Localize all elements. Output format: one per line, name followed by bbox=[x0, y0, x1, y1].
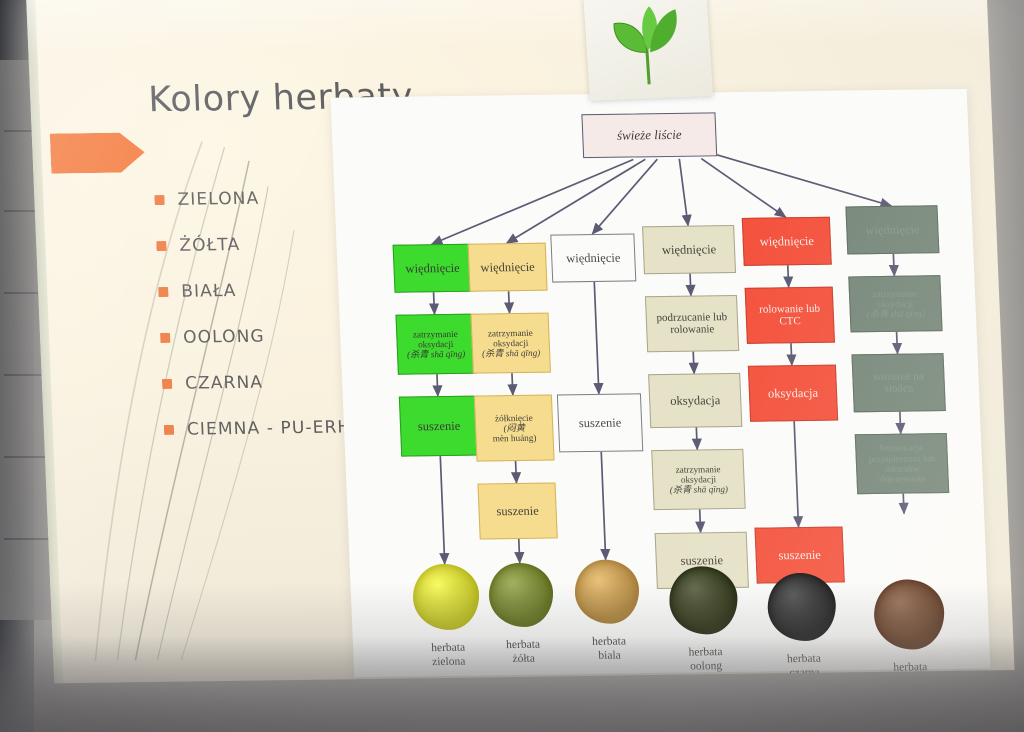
list-item-label: CIEMNA - PU-ERH bbox=[187, 417, 352, 439]
node-line: żółknięcie bbox=[492, 412, 536, 423]
slide: Kolory herbaty ZIELONAŻÓŁTABIAŁAOOLONGCZ… bbox=[26, 0, 1015, 683]
process-node-yellow-1: zatrzymanieoksydacji(杀青 shā qīng) bbox=[470, 313, 550, 374]
process-node-green-1: zatrzymanieoksydacji(杀青 shā qīng) bbox=[395, 314, 475, 375]
process-node-yellow-0: więdnięcie bbox=[468, 243, 548, 292]
diagram-root-node: świeże liście bbox=[581, 112, 717, 158]
list-item-label: ZIELONA bbox=[177, 189, 260, 210]
node-line: więdnięcie bbox=[566, 251, 621, 266]
process-node-yellow-3: suszenie bbox=[477, 482, 557, 539]
node-line: podrzucanie lub bbox=[656, 311, 727, 324]
process-node-black-1: rolowanie lubCTC bbox=[745, 287, 835, 344]
node-line: słońcu bbox=[873, 382, 924, 395]
node-line: suszenie na bbox=[873, 370, 924, 383]
tea-leaf-icon bbox=[602, 3, 693, 90]
node-line: (杀青 shā qīng) bbox=[670, 484, 729, 495]
node-line: (闷黄 bbox=[492, 423, 536, 434]
process-node-black-2: oksydacja bbox=[748, 365, 838, 422]
process-node-oolong-0: więdnięcie bbox=[642, 225, 736, 274]
node-line: rolowanie bbox=[657, 323, 728, 336]
bullet-marker-icon bbox=[162, 379, 172, 389]
process-node-puerh-1: zatrzymanieoksydacji(杀青 shā qīng) bbox=[848, 275, 942, 332]
node-line: przyspieszona lub bbox=[869, 453, 936, 464]
node-line: więdnięcie bbox=[662, 242, 717, 257]
node-line: suszenie bbox=[579, 416, 622, 431]
node-line: zatrzymanie bbox=[866, 288, 925, 299]
process-node-yellow-2: żółknięcie(闷黄mèn huáng) bbox=[474, 395, 555, 462]
slide-top-glare bbox=[26, 0, 989, 54]
list-item-label: OOLONG bbox=[183, 327, 265, 348]
bullet-marker-icon bbox=[156, 241, 166, 251]
process-node-puerh-3: fermentacjaprzyspieszona lubnaturalnedoj… bbox=[855, 433, 949, 494]
process-node-green-2: suszenie bbox=[399, 396, 479, 457]
node-line: więdnięcie bbox=[865, 222, 920, 237]
tea-leaf-logo-sheet bbox=[583, 0, 713, 101]
node-line: zatrzymanie bbox=[481, 327, 540, 338]
list-item-label: ŻÓŁTA bbox=[179, 235, 241, 256]
lower-shadow bbox=[0, 636, 1024, 732]
node-line: (杀青 shā qīng) bbox=[407, 349, 466, 360]
node-line: więdnięcie bbox=[405, 261, 460, 276]
bullet-marker-icon bbox=[158, 287, 168, 297]
node-line: zatrzymanie bbox=[669, 464, 728, 475]
orange-arrow-tag bbox=[50, 132, 146, 173]
node-line: suszenie bbox=[418, 419, 461, 434]
projected-slide-photo: Kolory herbaty ZIELONAŻÓŁTABIAŁAOOLONGCZ… bbox=[0, 0, 1024, 732]
bullet-marker-icon bbox=[160, 333, 170, 343]
node-line: oksydacja bbox=[670, 393, 721, 408]
process-node-puerh-0: więdnięcie bbox=[845, 205, 939, 254]
node-line: oksydacja bbox=[768, 386, 819, 401]
process-node-white-1: suszenie bbox=[557, 393, 643, 452]
bullet-marker-icon bbox=[154, 195, 164, 205]
node-line: rolowanie lub bbox=[759, 303, 820, 316]
node-line: suszenie bbox=[778, 548, 821, 563]
node-line: więdnięcie bbox=[480, 260, 535, 275]
node-line: mèn huáng) bbox=[493, 433, 537, 444]
process-node-puerh-2: suszenie nasłońcu bbox=[851, 353, 945, 412]
process-node-white-0: więdnięcie bbox=[550, 233, 636, 282]
process-node-oolong-1: podrzucanie lubrolowanie bbox=[645, 295, 739, 352]
bullet-marker-icon bbox=[164, 425, 174, 435]
list-item-label: BIAŁA bbox=[181, 281, 237, 302]
node-line: suszenie bbox=[496, 504, 539, 519]
node-line: zatrzymanie bbox=[406, 328, 465, 339]
process-node-oolong-2: oksydacja bbox=[648, 373, 742, 428]
node-line: dojrzewanie bbox=[869, 473, 936, 484]
process-node-oolong-3: zatrzymanieoksydacji(杀青 shā qīng) bbox=[651, 449, 745, 510]
process-node-black-0: więdnięcie bbox=[742, 217, 832, 266]
node-line: CTC bbox=[759, 315, 820, 328]
process-node-green-0: więdnięcie bbox=[393, 244, 473, 293]
node-line: więdnięcie bbox=[759, 234, 814, 249]
list-item-label: CZARNA bbox=[185, 373, 264, 394]
node-line: (杀青 shā qīng) bbox=[867, 309, 926, 320]
node-line: (杀青 shā qīng) bbox=[482, 348, 541, 359]
